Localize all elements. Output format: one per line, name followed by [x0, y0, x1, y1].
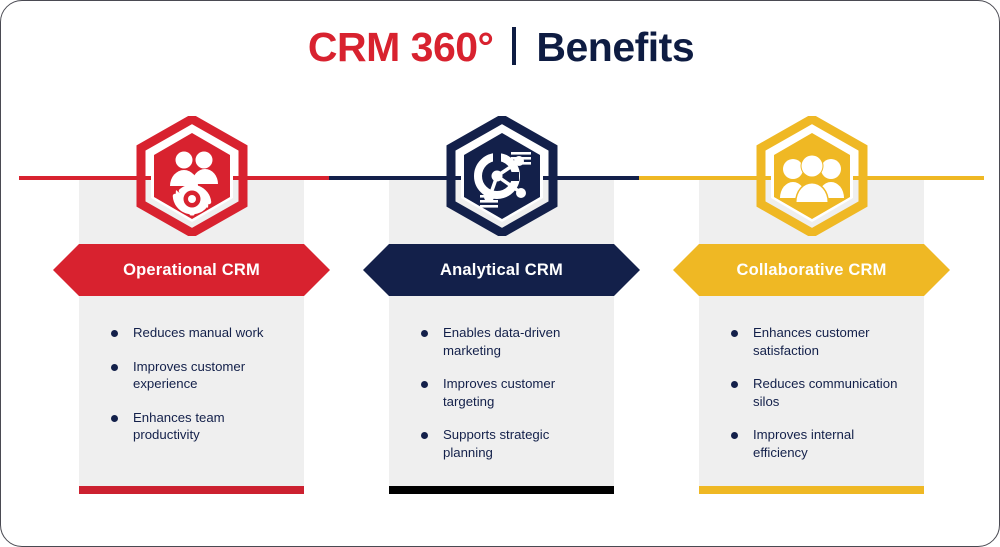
list-item: Improves customer targeting — [411, 375, 601, 410]
list-item-text: Reduces manual work — [133, 325, 263, 340]
list-item: Improves internal efficiency — [721, 426, 911, 461]
list-item-text: Improves customer targeting — [443, 376, 555, 409]
bullet-dot-icon — [111, 415, 118, 422]
title-sub-text: Benefits — [536, 24, 694, 70]
list-item-text: Reduces communication silos — [753, 376, 897, 409]
list-item: Improves customer experience — [101, 358, 291, 393]
list-item-text: Enhances team productivity — [133, 410, 225, 443]
list-item: Enhances team productivity — [101, 409, 291, 444]
bullet-dot-icon — [731, 432, 738, 439]
title-main-text: CRM 360° — [308, 24, 494, 70]
benefit-list: Reduces manual work Improves customer ex… — [101, 324, 291, 444]
list-item: Enables data-driven marketing — [411, 324, 601, 359]
side-rule-left — [639, 176, 699, 180]
banner-analytical-crm[interactable]: Analytical CRM — [363, 244, 640, 296]
list-item: Reduces manual work — [101, 324, 291, 342]
list-item-text: Enhances customer satisfaction — [753, 325, 870, 358]
page-title: CRM 360° Benefits — [1, 27, 1000, 68]
benefit-column-collaborative-crm: Collaborative CRM Enhances customer sati… — [699, 176, 924, 494]
list-item: Reduces communication silos — [721, 375, 911, 410]
bullet-dot-icon — [421, 330, 428, 337]
list-item: Enhances customer satisfaction — [721, 324, 911, 359]
bullet-dot-icon — [111, 364, 118, 371]
banner-label: Collaborative CRM — [673, 244, 950, 296]
banner-label: Analytical CRM — [363, 244, 640, 296]
list-item: Supports strategic planning — [411, 426, 601, 461]
card-bottom-bar — [79, 486, 304, 494]
list-item-text: Supports strategic planning — [443, 427, 549, 460]
card-bottom-bar — [699, 486, 924, 494]
benefit-column-analytical-crm: Analytical CRM Enables data-driven marke… — [389, 176, 614, 494]
side-rule-left — [19, 176, 79, 180]
people-group-hexagon-icon — [752, 116, 872, 236]
list-item-text: Enables data-driven marketing — [443, 325, 560, 358]
side-rule-right — [924, 176, 984, 180]
benefit-list: Enhances customer satisfaction Reduces c… — [721, 324, 911, 461]
banner-collaborative-crm[interactable]: Collaborative CRM — [673, 244, 950, 296]
title-divider — [512, 27, 516, 65]
people-gear-refresh-hexagon-icon — [132, 116, 252, 236]
bullet-dot-icon — [421, 432, 428, 439]
banner-label: Operational CRM — [53, 244, 330, 296]
benefit-column-operational-crm: Operational CRM Reduces manual work Impr… — [79, 176, 304, 494]
bullet-dot-icon — [111, 330, 118, 337]
bullet-dot-icon — [421, 381, 428, 388]
list-item-text: Improves customer experience — [133, 359, 245, 392]
side-rule-left — [329, 176, 389, 180]
bullet-dot-icon — [731, 330, 738, 337]
list-item-text: Improves internal efficiency — [753, 427, 854, 460]
benefit-list: Enables data-driven marketing Improves c… — [411, 324, 601, 461]
infographic-page: CRM 360° Benefits — [0, 0, 1000, 547]
card-bottom-bar — [389, 486, 614, 494]
analytics-network-hexagon-icon — [442, 116, 562, 236]
banner-operational-crm[interactable]: Operational CRM — [53, 244, 330, 296]
bullet-dot-icon — [731, 381, 738, 388]
